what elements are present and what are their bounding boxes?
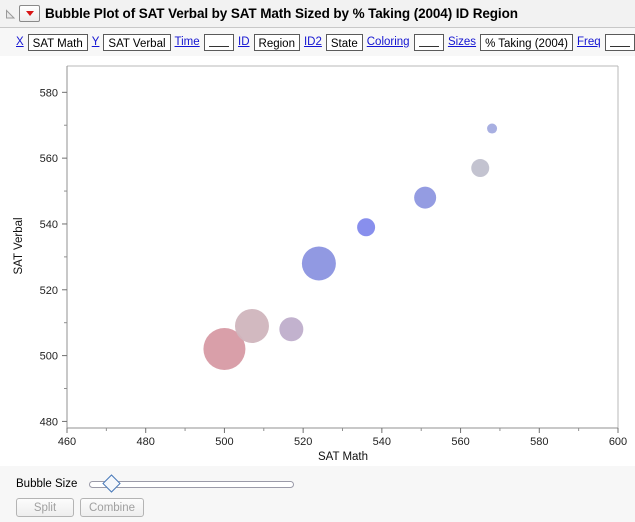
- y-tick-label: 480: [40, 416, 58, 428]
- y-tick-label: 540: [40, 219, 58, 231]
- bubble-6[interactable]: [414, 187, 436, 209]
- bubble-layer: [203, 124, 497, 370]
- y-tick-label: 520: [40, 285, 58, 297]
- bubble-5[interactable]: [357, 218, 375, 236]
- x-tick-label: 460: [58, 436, 76, 448]
- role-label-coloring[interactable]: Coloring: [367, 36, 410, 48]
- y-tick-label: 560: [40, 153, 58, 165]
- x-tick-label: 520: [294, 436, 312, 448]
- split-combine-buttons: Split Combine: [16, 498, 144, 517]
- bubble-size-slider[interactable]: [89, 477, 294, 491]
- x-tick-label: 560: [451, 436, 469, 448]
- page-title: Bubble Plot of SAT Verbal by SAT Math Si…: [45, 6, 518, 21]
- bubble-3[interactable]: [279, 317, 303, 341]
- y-tick-label: 500: [40, 351, 58, 363]
- y-axis-title: SAT Verbal: [13, 217, 25, 274]
- bubble-7[interactable]: [471, 159, 489, 177]
- bubble-8[interactable]: [487, 124, 497, 134]
- y-tick-label: 580: [40, 87, 58, 99]
- bubble-size-label: Bubble Size: [16, 478, 77, 490]
- split-button[interactable]: Split: [16, 498, 74, 517]
- role-label-time[interactable]: Time: [175, 36, 200, 48]
- bubble-4[interactable]: [302, 246, 336, 280]
- red-triangle-popup-icon[interactable]: [19, 5, 40, 22]
- bubble-controls-panel: Bubble Size Split Combine: [0, 466, 635, 522]
- role-value-coloring[interactable]: [414, 34, 444, 51]
- x-axis-title: SAT Math: [318, 451, 368, 463]
- role-value-sizes[interactable]: % Taking (2004): [480, 34, 573, 51]
- role-value-x[interactable]: SAT Math: [28, 34, 88, 51]
- role-value-y[interactable]: SAT Verbal: [103, 34, 170, 51]
- role-label-freq[interactable]: Freq: [577, 36, 601, 48]
- bubble-plot-canvas[interactable]: 4604805005205405605806004805005205405605…: [0, 56, 635, 466]
- role-label-x[interactable]: X: [16, 36, 24, 48]
- red-triangle-glyph: [26, 11, 34, 16]
- disclosure-triangle-icon[interactable]: [5, 8, 17, 20]
- role-value-id[interactable]: Region: [254, 34, 300, 51]
- plot-svg: 4604805005205405605806004805005205405605…: [0, 56, 635, 466]
- x-tick-label: 600: [609, 436, 627, 448]
- combine-button[interactable]: Combine: [80, 498, 144, 517]
- variable-role-bar: X SAT Math Y SAT Verbal Time ID Region I…: [0, 28, 635, 56]
- bubble-plot-report: Bubble Plot of SAT Verbal by SAT Math Si…: [0, 0, 635, 522]
- x-tick-label: 480: [137, 436, 155, 448]
- role-value-time[interactable]: [204, 34, 234, 51]
- role-value-id2[interactable]: State: [326, 34, 363, 51]
- role-label-id[interactable]: ID: [238, 36, 250, 48]
- role-label-id2[interactable]: ID2: [304, 36, 322, 48]
- bubble-size-control: Bubble Size: [16, 477, 294, 491]
- bubble-2[interactable]: [235, 309, 269, 343]
- x-tick-label: 580: [530, 436, 548, 448]
- x-tick-label: 500: [215, 436, 233, 448]
- x-tick-label: 540: [373, 436, 391, 448]
- role-label-sizes[interactable]: Sizes: [448, 36, 476, 48]
- role-label-y[interactable]: Y: [92, 36, 100, 48]
- role-value-freq[interactable]: [605, 34, 635, 51]
- report-title-bar: Bubble Plot of SAT Verbal by SAT Math Si…: [0, 0, 635, 28]
- slider-thumb[interactable]: [102, 474, 120, 492]
